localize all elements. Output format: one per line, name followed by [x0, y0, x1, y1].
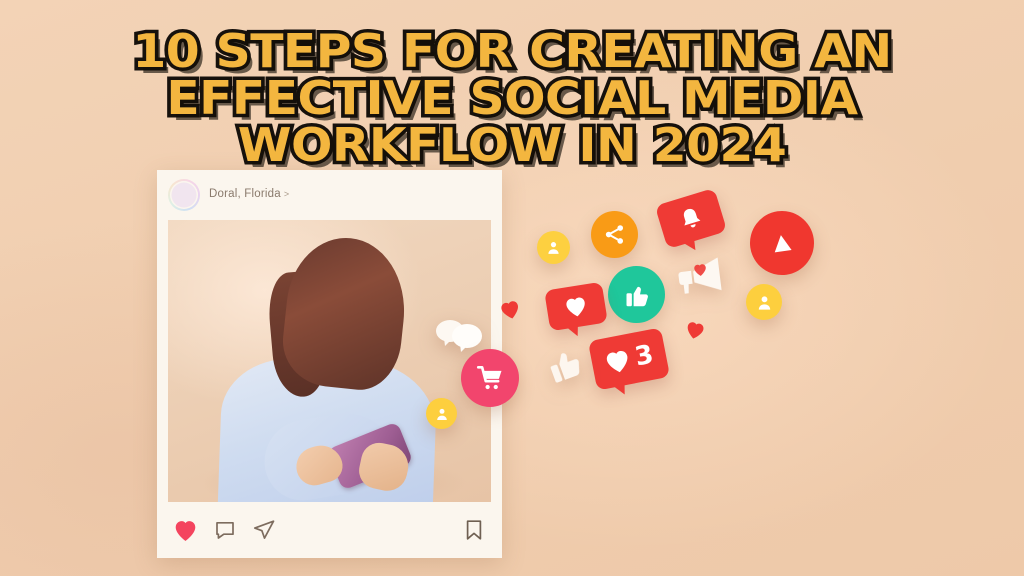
heart-glyph-5: [692, 262, 708, 277]
user-badge-icon-3: [426, 398, 457, 429]
user-glyph: [545, 239, 562, 256]
avatar[interactable]: [168, 179, 200, 211]
post-action-bar: [157, 502, 502, 558]
heart-glyph-2: [603, 346, 634, 376]
share-nodes-glyph: [602, 222, 627, 247]
user-glyph-3: [434, 406, 450, 422]
small-heart-icon-3: [692, 262, 709, 282]
heart-glyph-4: [683, 319, 707, 342]
comment-icon[interactable]: [213, 518, 237, 542]
play-triangle-glyph: [765, 226, 799, 260]
share-network-icon: [591, 211, 638, 258]
post-action-right-group: [462, 518, 486, 542]
user-badge-icon-2: [746, 284, 782, 320]
user-glyph-2: [755, 293, 774, 312]
bell-glyph: [675, 202, 707, 234]
instagram-post-card[interactable]: Doral, Florida >: [157, 170, 502, 558]
like-count-label: 3: [633, 342, 656, 371]
shopping-cart-circle-icon: [461, 349, 519, 407]
post-location[interactable]: Doral, Florida >: [209, 188, 289, 201]
heart-icon[interactable]: [173, 519, 198, 542]
heart-glyph: [562, 294, 589, 319]
thumbs-up-circle-icon: [608, 266, 665, 323]
bookmark-icon[interactable]: [462, 518, 486, 542]
heart-glyph-3: [497, 298, 523, 323]
post-header: Doral, Florida >: [157, 170, 502, 220]
post-meta: Doral, Florida >: [209, 188, 289, 201]
chevron-right-icon: >: [284, 189, 289, 199]
cart-glyph: [475, 363, 505, 393]
poster-canvas: Doral, Florida >: [0, 0, 1024, 576]
share-icon[interactable]: [252, 518, 276, 542]
post-action-left-group: [173, 518, 276, 542]
thumbs-up-glyph: [622, 280, 652, 310]
post-location-label: Doral, Florida: [209, 188, 281, 201]
post-photo: [168, 220, 491, 502]
page-title: 10 STEPS FOR CREATING AN EFFECTIVE SOCIA…: [0, 28, 1024, 169]
user-badge-icon: [537, 231, 570, 264]
avatar-image: [170, 181, 198, 209]
